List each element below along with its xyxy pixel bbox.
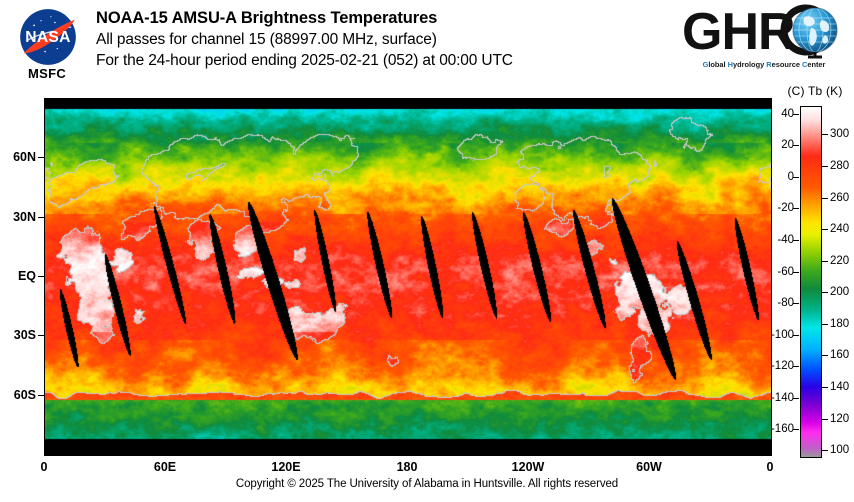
colorbar-kelvin-label: 200 bbox=[830, 286, 849, 298]
lon-tick-label: 0 bbox=[41, 460, 48, 474]
lat-tick-label: 60N bbox=[13, 150, 36, 164]
colorbar-kelvin-tick bbox=[822, 292, 828, 293]
colorbar-kelvin-tick bbox=[822, 450, 828, 451]
colorbar-kelvin-tick bbox=[822, 166, 828, 167]
colorbar-celsius-label: -100 bbox=[771, 329, 794, 341]
lat-tick-mark bbox=[38, 276, 44, 277]
colorbar: (C) Tb (K) 40200-20-40-60-80-100-120-140… bbox=[776, 84, 854, 470]
colorbar-celsius-label: -20 bbox=[777, 202, 794, 214]
brightness-temperature-raster bbox=[45, 99, 771, 455]
lon-tick-label: 120E bbox=[271, 460, 300, 474]
title-block: NOAA-15 AMSU-A Brightness Temperatures A… bbox=[96, 8, 676, 71]
colorbar-kelvin-label: 220 bbox=[830, 255, 849, 267]
colorbar-kelvin-tick bbox=[822, 261, 828, 262]
page-title: NOAA-15 AMSU-A Brightness Temperatures bbox=[96, 8, 676, 29]
lat-tick-mark bbox=[38, 395, 44, 396]
colorbar-kelvin-label: 300 bbox=[830, 128, 849, 140]
colorbar-kelvin-label: 240 bbox=[830, 223, 849, 235]
colorbar-kelvin-label: 160 bbox=[830, 349, 849, 361]
colorbar-kelvin-tick bbox=[822, 419, 828, 420]
colorbar-celsius-label: -60 bbox=[777, 266, 794, 278]
lat-tick-label: EQ bbox=[18, 269, 36, 283]
colorbar-celsius-label: -80 bbox=[777, 297, 794, 309]
colorbar-kelvin-tick bbox=[822, 198, 828, 199]
colorbar-celsius-label: -120 bbox=[771, 360, 794, 372]
colorbar-kelvin-tick bbox=[822, 387, 828, 388]
colorbar-kelvin-label: 140 bbox=[830, 381, 849, 393]
ghrc-tagline: Global Hydrology Resource Center bbox=[682, 60, 846, 69]
colorbar-kelvin-tick bbox=[822, 134, 828, 135]
lat-tick-label: 30S bbox=[14, 328, 36, 342]
colorbar-title: (C) Tb (K) bbox=[776, 84, 854, 98]
ghrc-logo: GHR Global Hydrology Resource Center bbox=[680, 4, 848, 80]
svg-text:GHR: GHR bbox=[682, 4, 795, 60]
latitude-axis: 60N30NEQ30S60S bbox=[0, 98, 36, 454]
colorbar-kelvin-label: 120 bbox=[830, 413, 849, 425]
longitude-axis: 060E120E180120W60W0 bbox=[0, 456, 854, 476]
lat-tick-label: 60S bbox=[14, 388, 36, 402]
lat-tick-mark bbox=[38, 217, 44, 218]
colorbar-kelvin-tick bbox=[822, 355, 828, 356]
nasa-meatball-icon: NASA bbox=[19, 8, 77, 66]
lat-tick-label: 30N bbox=[13, 210, 36, 224]
lon-tick-label: 120W bbox=[512, 460, 545, 474]
colorbar-kelvin-tick bbox=[822, 229, 828, 230]
svg-text:NASA: NASA bbox=[25, 29, 71, 46]
colorbar-celsius-label: 20 bbox=[781, 139, 794, 151]
lat-tick-mark bbox=[38, 335, 44, 336]
colorbar-celsius-label: -160 bbox=[771, 423, 794, 435]
nasa-center-label: MSFC bbox=[8, 66, 86, 81]
colorbar-celsius-label: -40 bbox=[777, 234, 794, 246]
global-temperature-map[interactable] bbox=[44, 98, 772, 456]
channel-subtitle: All passes for channel 15 (88997.00 MHz,… bbox=[96, 29, 676, 50]
lon-tick-label: 60E bbox=[154, 460, 176, 474]
lat-tick-mark bbox=[38, 157, 44, 158]
ghrc-wordmark-icon: GHR bbox=[680, 4, 848, 60]
lon-tick-label: 180 bbox=[397, 460, 418, 474]
colorbar-kelvin-label: 260 bbox=[830, 192, 849, 204]
copyright-notice: Copyright © 2025 The University of Alaba… bbox=[0, 478, 854, 490]
period-subtitle: For the 24-hour period ending 2025-02-21… bbox=[96, 50, 676, 71]
nasa-logo: NASA MSFC bbox=[8, 6, 86, 84]
colorbar-kelvin-label: 280 bbox=[830, 160, 849, 172]
colorbar-celsius-label: -140 bbox=[771, 392, 794, 404]
colorbar-celsius-label: 40 bbox=[781, 108, 794, 120]
lon-tick-label: 0 bbox=[767, 460, 774, 474]
lon-tick-label: 60W bbox=[636, 460, 662, 474]
colorbar-kelvin-label: 180 bbox=[830, 318, 849, 330]
colorbar-kelvin-tick bbox=[822, 324, 828, 325]
colorbar-kelvin-label: 100 bbox=[830, 444, 849, 456]
colorbar-gradient bbox=[800, 106, 822, 458]
colorbar-celsius-label: 0 bbox=[788, 171, 794, 183]
